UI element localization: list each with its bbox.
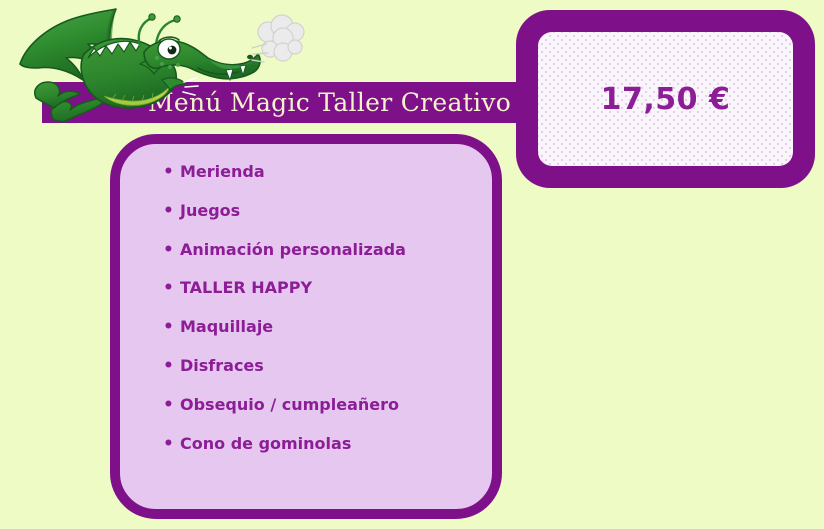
list-item: Juegos <box>163 201 482 221</box>
list-item: TALLER HAPPY <box>163 278 482 298</box>
list-item-label: Juegos <box>180 201 240 220</box>
list-item: Disfraces <box>163 356 482 376</box>
list-item-label: Cono de gominolas <box>180 434 351 453</box>
menu-list: Merienda Juegos Animación personalizada … <box>163 162 482 472</box>
list-item: Obsequio / cumpleañero <box>163 395 482 415</box>
list-item: Maquillaje <box>163 317 482 337</box>
price-card: 17,50 € <box>538 32 793 166</box>
list-item-label: Merienda <box>180 162 265 181</box>
list-item-label: TALLER HAPPY <box>180 278 312 297</box>
list-item-label: Maquillaje <box>180 317 273 336</box>
price-amount: 17,50 € <box>601 82 731 117</box>
list-item-label: Obsequio / cumpleañero <box>180 395 399 414</box>
page-title: Menú Magic Taller Creativo <box>148 81 516 124</box>
menu-poster: 17,50 € Menú Magic Taller Creativo Merie… <box>0 0 824 529</box>
menu-panel: Merienda Juegos Animación personalizada … <box>110 134 502 519</box>
price-box: 17,50 € <box>516 10 815 188</box>
list-item-label: Animación personalizada <box>180 240 406 259</box>
list-item-label: Disfraces <box>180 356 264 375</box>
list-item: Animación personalizada <box>163 240 482 260</box>
list-item: Merienda <box>163 162 482 182</box>
list-item: Cono de gominolas <box>163 434 482 454</box>
